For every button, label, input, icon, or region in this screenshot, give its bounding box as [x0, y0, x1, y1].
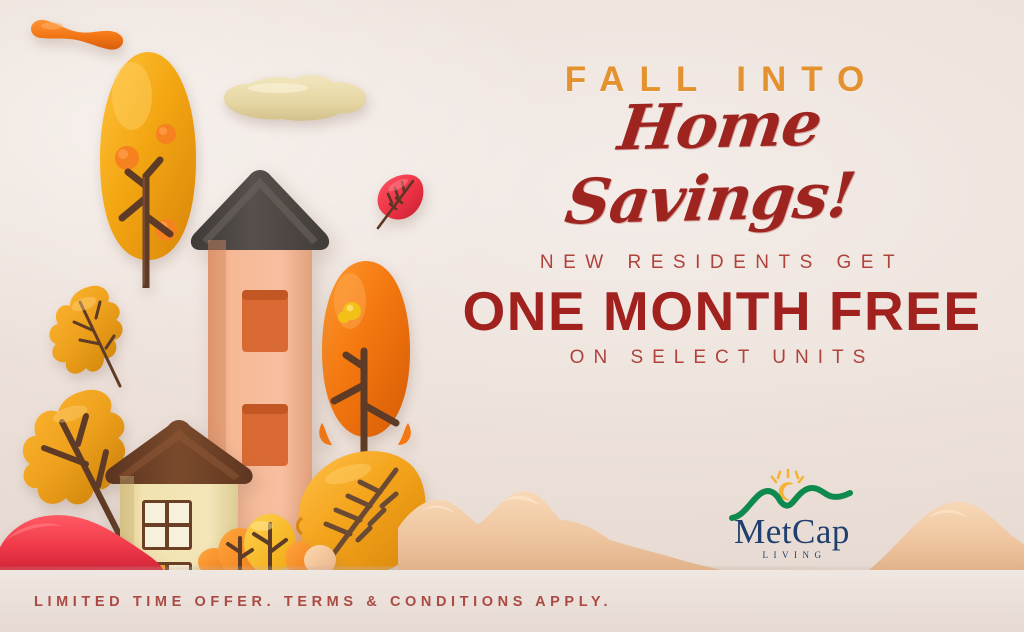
offer-sub-line: ON SELECT UNITS: [420, 347, 1024, 369]
headline-script: Home Savings!: [475, 83, 954, 240]
metcap-tagline: LIVING: [722, 550, 862, 560]
oak-leaf-upper-decoration: [44, 282, 130, 395]
metcap-logo[interactable]: MetCap LIVING: [722, 468, 862, 560]
promo-banner: FALL INTO Home Savings! NEW RESIDENTS GE…: [0, 0, 1024, 632]
headline-block: FALL INTO Home Savings!: [486, 62, 944, 235]
tan-hill-left: [398, 476, 728, 572]
offer-main-line: ONE MONTH FREE: [420, 283, 1024, 341]
metcap-wordmark: MetCap: [722, 514, 862, 549]
cream-cloud-decoration: [218, 68, 370, 135]
tan-hill-right: [866, 486, 1024, 572]
offer-block: NEW RESIDENTS GET ONE MONTH FREE ON SELE…: [420, 252, 1024, 369]
offer-top-line: NEW RESIDENTS GET: [420, 252, 1024, 274]
red-leaf-decoration: [368, 168, 430, 237]
disclaimer-text: LIMITED TIME OFFER. TERMS & CONDITIONS A…: [34, 594, 612, 610]
